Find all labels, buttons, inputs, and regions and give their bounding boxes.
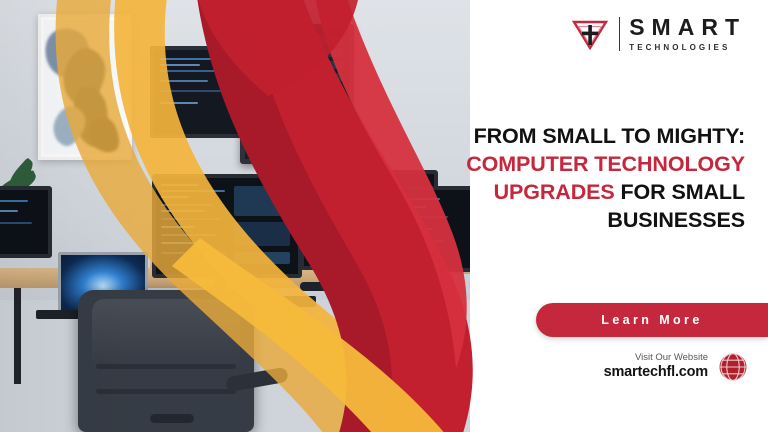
website-block[interactable]: Visit Our Website smartechfl.com	[604, 352, 748, 382]
logo-divider	[619, 17, 620, 51]
brand-name: SMART	[629, 16, 746, 39]
brand-subtitle: TECHNOLOGIES	[629, 43, 746, 52]
headline-line-2: COMPUTER TECHNOLOGY	[466, 152, 745, 176]
promo-banner: SMART TECHNOLOGIES FROM SMALL TO MIGHTY:…	[0, 0, 768, 432]
learn-more-button[interactable]: Learn More	[536, 303, 768, 337]
headline-line-3-accent: UPGRADES	[494, 180, 615, 204]
website-text: Visit Our Website smartechfl.com	[604, 353, 708, 382]
website-prompt: Visit Our Website	[604, 353, 708, 363]
brand-logo[interactable]: SMART TECHNOLOGIES	[570, 14, 746, 54]
globe-icon	[718, 352, 748, 382]
website-url: smartechfl.com	[604, 363, 708, 381]
page-title: FROM SMALL TO MIGHTY: COMPUTER TECHNOLOG…	[445, 123, 745, 235]
headline-line-1: FROM SMALL TO MIGHTY:	[474, 124, 745, 148]
triangle-cross-icon	[570, 14, 610, 54]
headline-line-4: BUSINESSES	[607, 208, 745, 232]
learn-more-label: Learn More	[601, 313, 702, 327]
logo-wordmark: SMART TECHNOLOGIES	[629, 16, 746, 52]
headline-line-3-rest: FOR SMALL	[615, 180, 745, 204]
